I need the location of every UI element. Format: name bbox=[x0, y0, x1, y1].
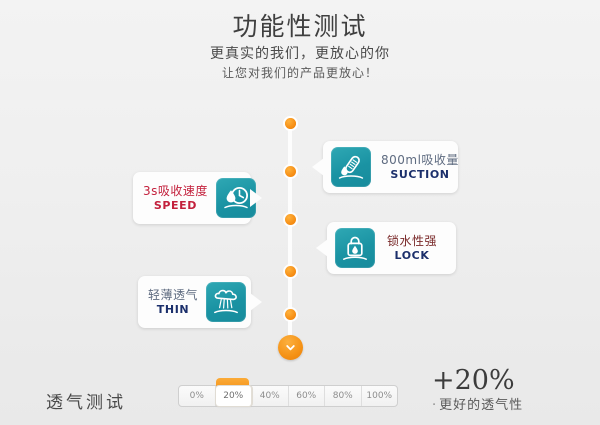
feature-card-suction-label-en: SUCTION bbox=[390, 168, 449, 182]
meter-track[interactable]: 0% 20% 40% 60% 80% 100% bbox=[178, 385, 398, 407]
card-tail-speed bbox=[250, 189, 262, 207]
feature-card-lock-label-cn: 锁水性强 bbox=[387, 234, 437, 249]
timeline-dot-5 bbox=[285, 309, 296, 320]
breathable-cloud-icon bbox=[206, 282, 246, 322]
feature-card-speed-text: 3s吸收速度 SPEED bbox=[143, 184, 208, 213]
meter-tick-80[interactable]: 80% bbox=[325, 386, 362, 406]
feature-card-thin-label-cn: 轻薄透气 bbox=[148, 288, 198, 303]
bullet-dot-icon: · bbox=[432, 398, 437, 413]
gain-value: +20% bbox=[432, 366, 572, 396]
feature-card-thin-text: 轻薄透气 THIN bbox=[148, 288, 198, 317]
feature-card-thin[interactable]: 轻薄透气 THIN bbox=[138, 276, 251, 328]
chevron-down-icon bbox=[284, 341, 297, 354]
meter-tick-40[interactable]: 40% bbox=[252, 386, 289, 406]
meter-tick-60[interactable]: 60% bbox=[289, 386, 326, 406]
timeline-dot-2 bbox=[285, 166, 296, 177]
card-tail-suction bbox=[312, 158, 324, 176]
timeline-dot-4 bbox=[285, 266, 296, 277]
feature-card-suction[interactable]: 800ml吸收量 SUCTION bbox=[323, 141, 458, 193]
feature-card-speed[interactable]: 3s吸收速度 SPEED bbox=[133, 172, 251, 224]
feature-card-suction-text: 800ml吸收量 SUCTION bbox=[381, 153, 459, 182]
meter-tick-0[interactable]: 0% bbox=[179, 386, 216, 406]
lock-droplet-icon bbox=[335, 228, 375, 268]
gain-caption: 更好的透气性 bbox=[439, 398, 523, 413]
header-block: 功能性测试 更真实的我们，更放心的你 让您对我们的产品更放心！ bbox=[0, 12, 600, 82]
feature-card-speed-label-en: SPEED bbox=[154, 199, 197, 213]
meter-tick-100[interactable]: 100% bbox=[362, 386, 398, 406]
feature-card-suction-label-cn: 800ml吸收量 bbox=[381, 153, 459, 168]
page-title: 功能性测试 bbox=[0, 12, 600, 42]
card-tail-lock bbox=[316, 239, 328, 257]
page-subtitle-primary: 更真实的我们，更放心的你 bbox=[0, 44, 600, 64]
timeline-end-button[interactable] bbox=[278, 335, 303, 360]
poster-canvas: 功能性测试 更真实的我们，更放心的你 让您对我们的产品更放心！ 3s吸收速度 S… bbox=[0, 0, 600, 425]
feature-card-thin-label-en: THIN bbox=[157, 303, 189, 317]
feature-card-lock[interactable]: 锁水性强 LOCK bbox=[327, 222, 456, 274]
timeline-dot-3 bbox=[285, 214, 296, 225]
card-tail-thin bbox=[250, 293, 262, 311]
feature-card-lock-label-en: LOCK bbox=[395, 249, 430, 263]
gain-block: +20% ·更好的透气性 bbox=[432, 366, 572, 415]
feature-card-speed-label-cn: 3s吸收速度 bbox=[143, 184, 208, 199]
gain-caption-row: ·更好的透气性 bbox=[432, 397, 572, 415]
breathability-meter[interactable]: 0% 20% 40% 60% 80% 100% bbox=[178, 385, 398, 407]
timeline-dot-3 bbox=[285, 118, 296, 129]
page-subtitle-secondary: 让您对我们的产品更放心！ bbox=[0, 64, 600, 82]
test-tube-icon bbox=[331, 147, 371, 187]
feature-card-lock-text: 锁水性强 LOCK bbox=[387, 234, 437, 263]
breathability-test-label: 透气测试 bbox=[46, 388, 126, 413]
meter-tick-20[interactable]: 20% bbox=[216, 386, 253, 406]
timeline-track bbox=[288, 118, 292, 348]
